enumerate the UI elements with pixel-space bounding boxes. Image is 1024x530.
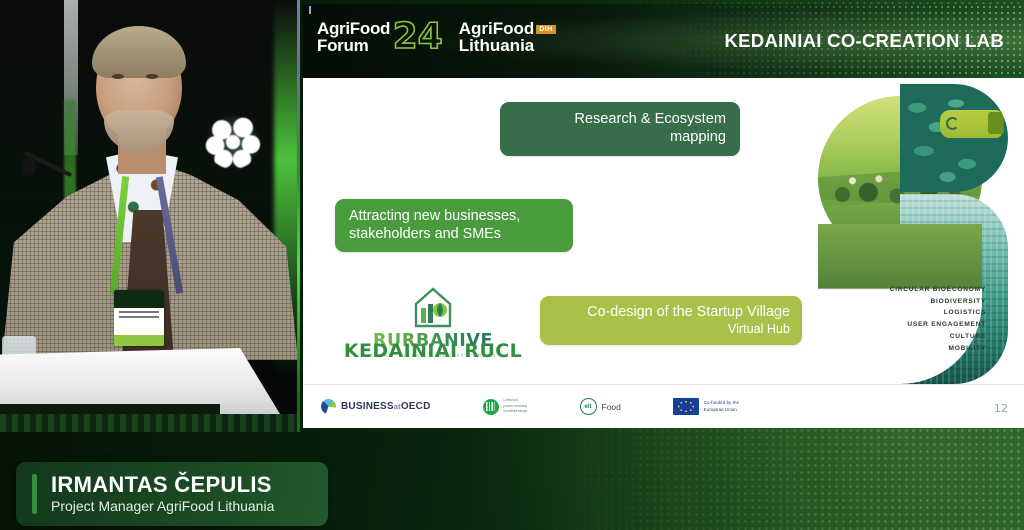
keyword-mobility: MOBILITY — [808, 343, 986, 355]
callout-research-line1: Research & Ecosystem — [514, 111, 726, 129]
agrifood-forum-logo: AgriFood Forum 24 — [317, 20, 443, 55]
vr-illustration-panel — [900, 84, 1008, 192]
oecd-swoosh-icon — [321, 399, 336, 414]
oecd-wordmark: BUSINESSatOECD — [341, 401, 431, 412]
lpk-line3: konfederacija — [504, 409, 528, 415]
speaker-eye-right — [146, 74, 158, 79]
partner-logo-row: BUSINESSatOECD Lietuvos pramonininkų kon… — [321, 398, 739, 415]
callout-research-ecosystem-mapping: Research & Ecosystem mapping — [500, 102, 740, 156]
speaker-eye-left — [112, 74, 124, 79]
slide-body: Research & Ecosystem mapping Attracting … — [303, 78, 1024, 384]
microphone-icon — [22, 156, 36, 176]
rural-urban-circle-infographic: CIRCULAR BIOECONOMY BIODIVERSITY LOGISTI… — [808, 84, 1008, 384]
keyword-user-engagement: USER ENGAGEMENT — [808, 319, 986, 331]
agrifood-forum-line1: AgriFood — [317, 19, 390, 38]
eit-food-label: Food — [602, 402, 621, 412]
speaker-identity: IRMANTAS ČEPULIS Project Manager AgriFoo… — [51, 473, 274, 515]
stage-floor-strip — [0, 414, 300, 432]
logo-eit-food: eit Food — [580, 398, 621, 415]
dih-badge: DIH — [536, 25, 556, 34]
oecd-tail-text: OECD — [401, 401, 431, 412]
speaker-role: Project Manager AgriFood Lithuania — [51, 498, 274, 516]
keyword-culture: CULTURE — [808, 331, 986, 343]
lpk-wordmark: Lietuvos pramonininkų konfederacija — [504, 398, 528, 415]
eu-line1: Co-funded by the — [704, 400, 739, 407]
lpk-mark-icon — [483, 399, 499, 415]
speaker-lower-third-banner: IRMANTAS ČEPULIS Project Manager AgriFoo… — [16, 462, 328, 526]
rurbanive-mark-icon — [410, 284, 456, 330]
slide-footer: BUSINESSatOECD Lietuvos pramonininkų kon… — [303, 384, 1024, 428]
video-edge-accent — [297, 0, 300, 432]
callout-codesign-line2: Virtual Hub — [552, 322, 790, 337]
slide-logos: AgriFood Forum 24 AgriFoodDIH Lithuania — [317, 20, 556, 55]
agrifood-lithuania-line2: Lithuania — [459, 36, 535, 55]
eit-mark-icon: eit — [580, 398, 597, 415]
speaker-video-feed — [0, 0, 300, 432]
oecd-business-text: BUSINESS — [341, 401, 394, 412]
forum-year-badge: 24 — [393, 21, 443, 53]
kedainiai-rucl-label: KEDAINIAI RUCL — [329, 340, 537, 362]
keyword-biodiversity: BIODIVERSITY — [808, 296, 986, 308]
callout-attract-line1: Attracting new businesses, — [349, 208, 559, 226]
slide-header: AgriFood Forum 24 AgriFoodDIH Lithuania … — [303, 4, 1024, 78]
slide-title: KEDAINIAI CO-CREATION LAB — [724, 30, 1004, 52]
infographic-keyword-list: CIRCULAR BIOECONOMY BIODIVERSITY LOGISTI… — [808, 284, 986, 354]
speaker-name: IRMANTAS ČEPULIS — [51, 473, 274, 498]
agrifood-forum-wordmark: AgriFood Forum — [317, 20, 395, 55]
callout-research-line2: mapping — [514, 129, 726, 147]
logo-lpk: Lietuvos pramonininkų konfederacija — [483, 398, 528, 415]
agrifood-dot-icon — [390, 19, 394, 38]
eu-flag-icon — [673, 398, 699, 415]
callout-attract-line2: stakeholders and SMEs — [349, 226, 559, 244]
keyword-circular-bioeconomy: CIRCULAR BIOECONOMY — [808, 284, 986, 296]
header-corner-tick — [309, 6, 311, 14]
eu-funding-text: Co-funded by the European Union — [704, 400, 739, 413]
oecd-at-text: at — [394, 402, 401, 411]
logo-european-union: Co-funded by the European Union — [673, 398, 739, 415]
eu-line2: European Union — [704, 407, 739, 414]
agrifood-lithuania-logo: AgriFoodDIH Lithuania — [459, 20, 556, 55]
slide-page-number: 12 — [994, 402, 1008, 415]
keyword-logistics: LOGISTICS — [808, 307, 986, 319]
banner-accent-bar — [32, 474, 37, 514]
agrifood-forum-line2: Forum — [317, 36, 368, 55]
presentation-slide: AgriFood Forum 24 AgriFoodDIH Lithuania … — [303, 4, 1024, 428]
callout-codesign-startup-village: Co-design of the Startup Village Virtual… — [540, 296, 802, 345]
logo-business-at-oecd: BUSINESSatOECD — [321, 399, 431, 414]
agrifood-lithuania-line1: AgriFood — [459, 19, 535, 38]
callout-codesign-line1: Co-design of the Startup Village — [552, 304, 790, 322]
stage-light-bank — [205, 113, 261, 169]
speaker-conference-badge — [114, 290, 164, 346]
callout-attracting-businesses: Attracting new businesses, stakeholders … — [335, 199, 573, 252]
